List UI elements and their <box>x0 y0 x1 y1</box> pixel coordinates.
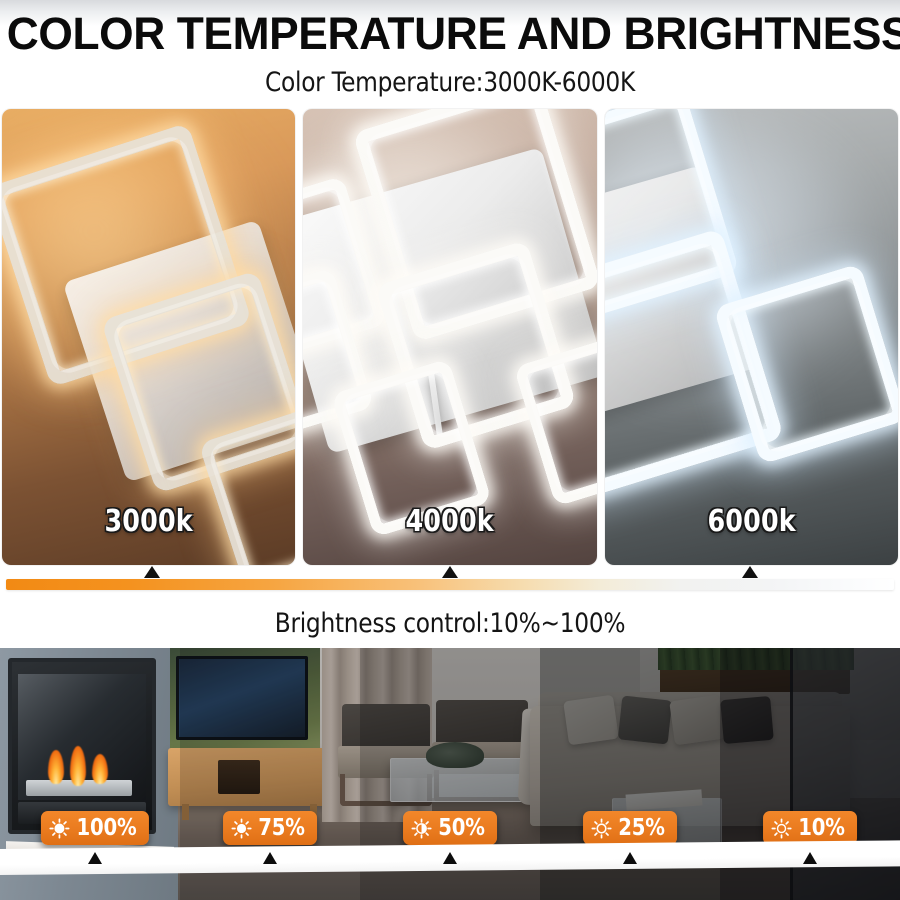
led-fixture-neutral <box>303 109 596 565</box>
marker-triangle-6000k <box>742 566 758 578</box>
color-temperature-markers <box>0 566 900 580</box>
brightness-badge-25[interactable]: 25% <box>583 811 677 845</box>
cushion <box>720 696 774 744</box>
sun-dim-icon <box>591 818 612 839</box>
chair-back <box>436 700 528 746</box>
cushion <box>563 695 619 746</box>
ct-caption-4000k: 4000k <box>312 504 588 539</box>
brightness-badge-label: 100% <box>77 811 137 845</box>
page-title-wrap: COLOR TEMPERATURE AND BRIGHTNESS <box>0 8 900 60</box>
page-title: COLOR TEMPERATURE AND BRIGHTNESS <box>7 8 894 60</box>
sun-full-icon <box>49 818 70 839</box>
brightness-section-label: Brightness control:10%~100% <box>18 607 882 641</box>
ct-panel-3000k[interactable]: 3000k <box>2 109 295 565</box>
marker-triangle-100 <box>88 852 102 864</box>
chair-back <box>342 704 430 750</box>
led-fixture-cool <box>605 109 898 565</box>
table-centerpiece <box>426 742 484 768</box>
sun-half-icon <box>411 818 432 839</box>
brightness-badge-label: 75% <box>258 811 304 845</box>
ct-panel-6000k[interactable]: 6000k <box>605 109 898 565</box>
television <box>176 656 308 740</box>
flame <box>92 754 108 784</box>
marker-triangle-4000k <box>442 566 458 578</box>
brightness-badge-50[interactable]: 50% <box>403 811 497 845</box>
brightness-badge-75[interactable]: 75% <box>223 811 317 845</box>
console-shelf <box>218 760 260 794</box>
color-temperature-panel-row: 3000k 4000k <box>2 109 898 565</box>
brightness-badge-10[interactable]: 10% <box>763 811 857 845</box>
sun-bright-icon <box>231 818 252 839</box>
color-temperature-subtitle: Color Temperature:3000K-6000K <box>18 66 882 100</box>
ct-caption-6000k: 6000k <box>613 504 889 539</box>
marker-triangle-75 <box>263 852 277 864</box>
marker-triangle-10 <box>803 852 817 864</box>
brightness-badge-label: 10% <box>798 811 844 845</box>
led-fixture-warm <box>2 109 295 565</box>
product-infographic: COLOR TEMPERATURE AND BRIGHTNESS Color T… <box>0 0 900 900</box>
sun-outline-icon <box>771 818 792 839</box>
cushion <box>669 695 725 746</box>
ct-caption-3000k: 3000k <box>11 504 287 539</box>
brightness-badge-100[interactable]: 100% <box>41 811 149 845</box>
fireplace <box>8 658 156 834</box>
cushion <box>618 696 672 745</box>
marker-triangle-25 <box>623 852 637 864</box>
brightness-badge-label: 25% <box>618 811 664 845</box>
color-temperature-gradient-bar <box>6 579 894 590</box>
marker-triangle-3000k <box>144 566 160 578</box>
ct-panel-4000k[interactable]: 4000k <box>303 109 596 565</box>
brightness-markers <box>0 852 900 868</box>
brightness-badge-label: 50% <box>438 811 484 845</box>
marker-triangle-50 <box>443 852 457 864</box>
